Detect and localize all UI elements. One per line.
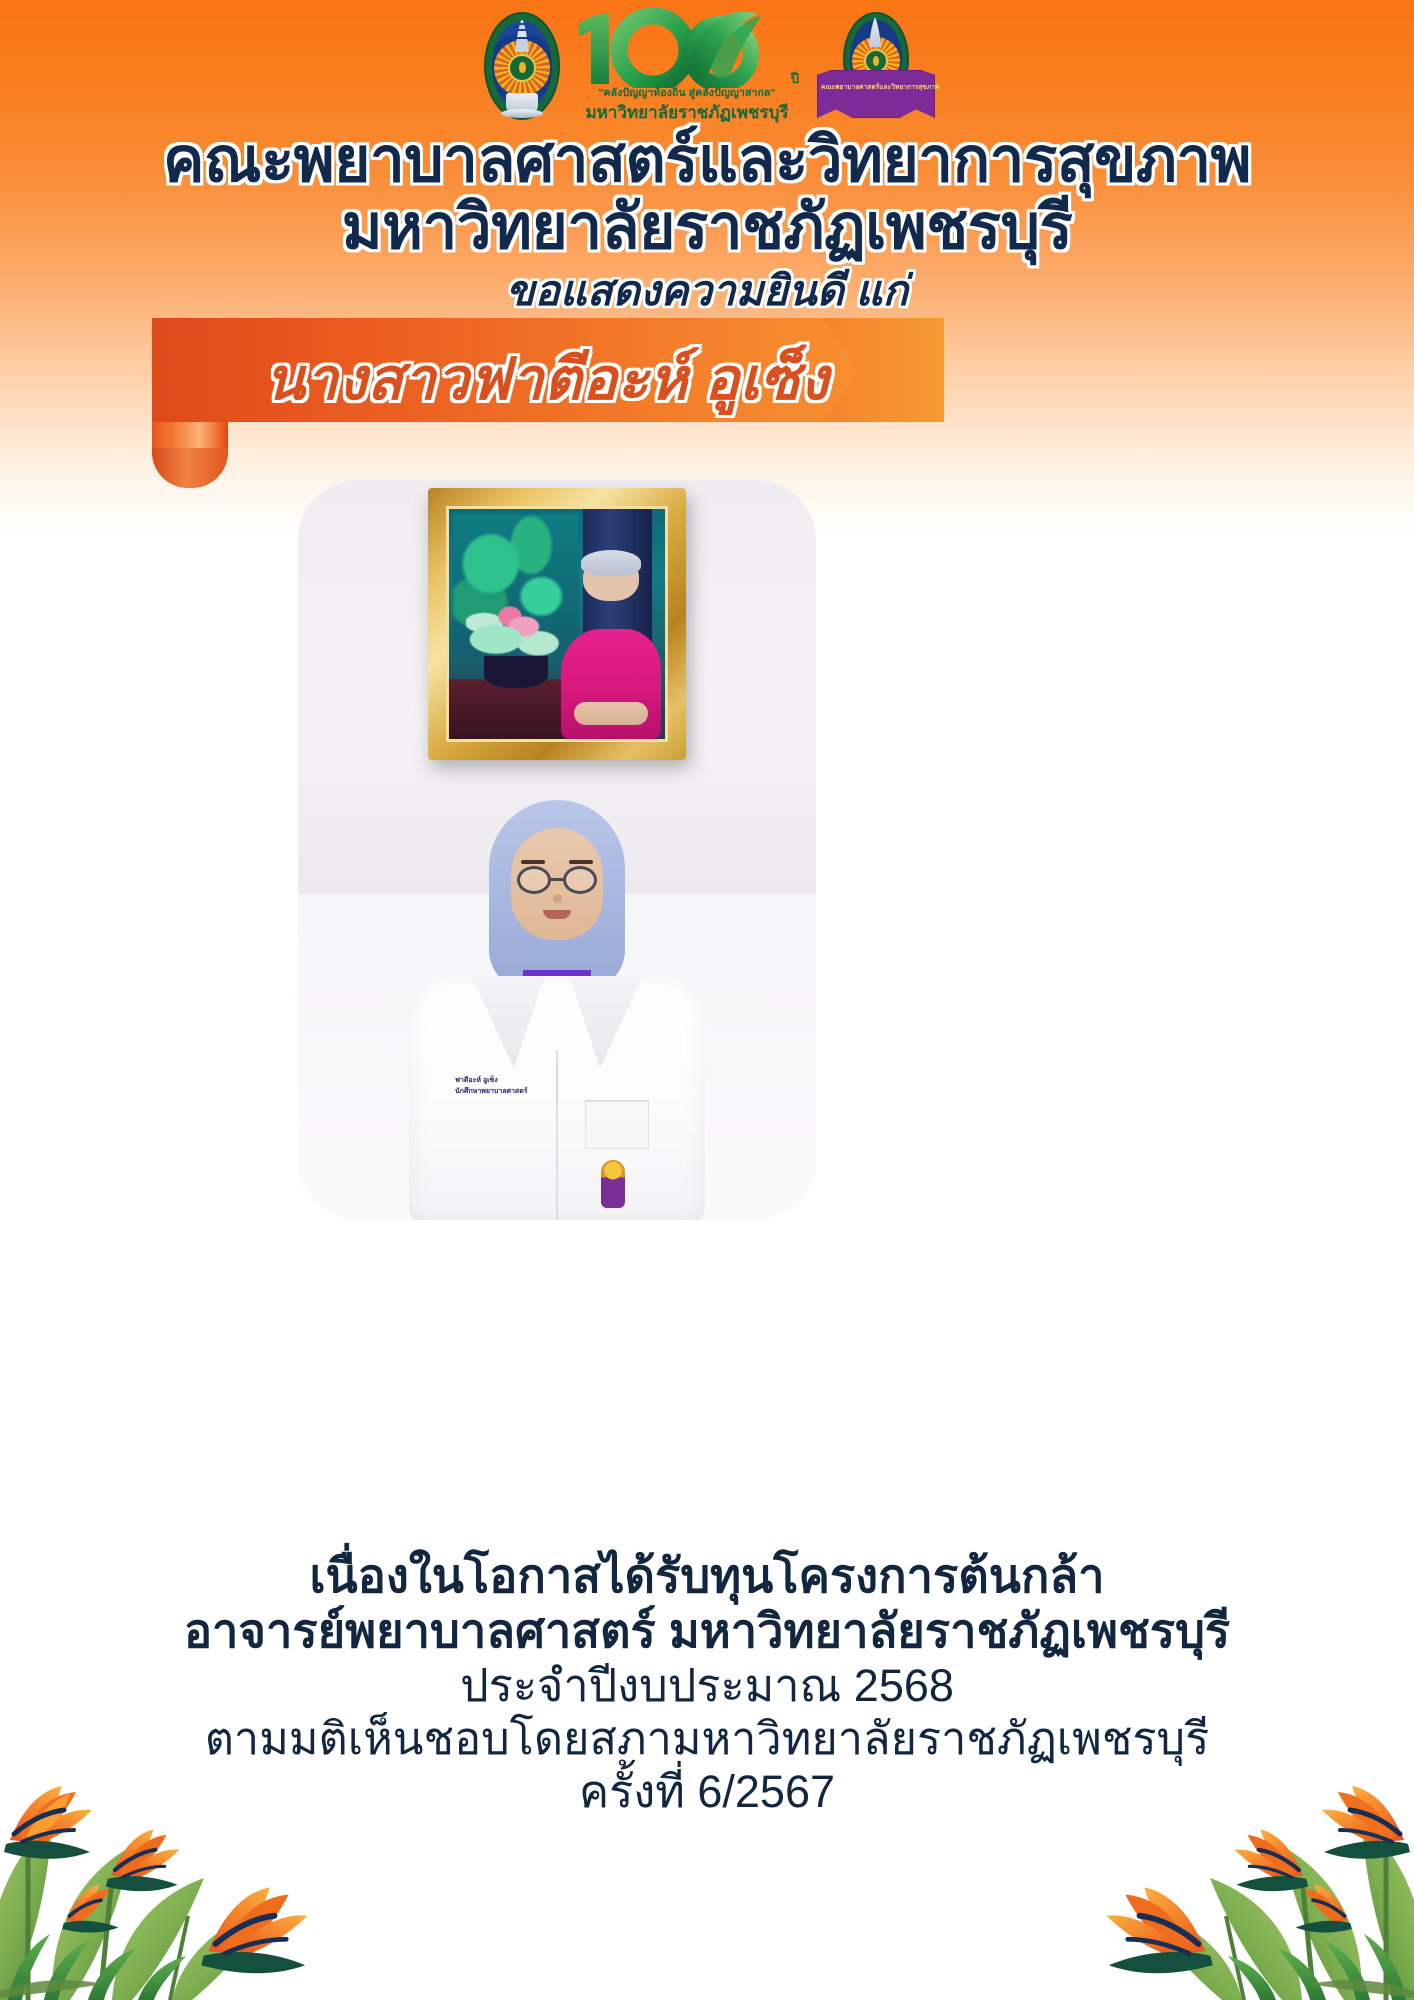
framed-portrait-image xyxy=(446,506,668,742)
body-line-3: ประจำปีงบประมาณ 2568 xyxy=(0,1659,1414,1712)
logo-row: ปี "คลังปัญญาท้องถิ่น สู่คลังปัญญาสากล" … xyxy=(0,8,1414,128)
coat-pocket xyxy=(585,1100,649,1149)
congratulations-poster: ปี "คลังปัญญาท้องถิ่น สู่คลังปัญญาสากล" … xyxy=(0,0,1414,2000)
title-line-2: มหาวิทยาลัยราชภัฏเพชรบุรี xyxy=(0,195,1414,262)
page-title: คณะพยาบาลศาสตร์และวิทยาการสุขภาพ มหาวิทย… xyxy=(0,128,1414,262)
faculty-emblem-ribbon-text: คณะพยาบาลศาสตร์และวิทยาการสุขภาพ xyxy=(821,82,931,93)
person-figure: ฟาตีอะห์ อูเซ็ง นักศึกษาพยาบาลศาสตร์ xyxy=(397,800,717,1220)
eyebrow-left xyxy=(521,860,545,864)
portrait-subject-arm xyxy=(574,702,647,725)
honoree-ribbon-banner: นางสาวฟาตีอะห์ อูเซ็ง xyxy=(0,318,1414,498)
body-line-5: ครั้งที่ 6/2567 xyxy=(0,1765,1414,1818)
centennial-100-logo: ปี "คลังปัญญาท้องถิ่น สู่คลังปัญญาสากล" … xyxy=(561,8,811,128)
faculty-emblem-ribbon xyxy=(817,70,935,118)
coat-badge-icon xyxy=(601,1160,625,1208)
portrait-vase xyxy=(484,656,549,688)
eyeglass-right-icon xyxy=(563,866,597,894)
title-line-1: คณะพยาบาลศาสตร์และวิทยาการสุขภาพ xyxy=(0,128,1414,195)
eyeglass-bridge xyxy=(551,878,563,881)
body-line-4: ตามมติเห็นชอบโดยสภามหาวิทยาลัยราชภัฏเพชร… xyxy=(0,1712,1414,1765)
coat-placket xyxy=(556,1050,558,1220)
centennial-university-name: มหาวิทยาลัยราชภัฏเพชรบุรี xyxy=(567,99,807,126)
portrait-subject-hair xyxy=(581,550,641,575)
eyeglass-left-icon xyxy=(517,866,551,894)
eyebrow-right xyxy=(569,860,593,864)
body-text: เนื่องในโอกาสได้รับทุนโครงการต้นกล้า อาจ… xyxy=(0,1548,1414,1818)
seal-center-emblem xyxy=(519,62,526,73)
coat-embroidery-text: ฟาตีอะห์ อูเซ็ง นักศึกษาพยาบาลศาสตร์ xyxy=(455,1076,541,1097)
faculty-emblem-icon: คณะพยาบาลศาสตร์และวิทยาการสุขภาพ xyxy=(815,8,935,128)
university-seal-icon xyxy=(479,8,565,124)
coat-embroidery-line-2: นักศึกษาพยาบาลศาสตร์ xyxy=(455,1088,528,1095)
nose xyxy=(553,894,562,903)
honoree-name: นางสาวฟาตีอะห์ อูเซ็ง xyxy=(152,332,942,425)
logo-block: ปี "คลังปัญญาท้องถิ่น สู่คลังปัญญาสากล" … xyxy=(479,8,935,128)
faculty-emblem-center xyxy=(873,56,879,66)
body-line-1: เนื่องในโอกาสได้รับทุนโครงการต้นกล้า xyxy=(0,1548,1414,1603)
congratulations-label: ขอแสดงความยินดี แก่ xyxy=(0,258,1414,324)
framed-portrait xyxy=(428,488,686,760)
coat-embroidery-line-1: ฟาตีอะห์ อูเซ็ง xyxy=(455,1077,498,1084)
honoree-photo: ฟาตีอะห์ อูเซ็ง นักศึกษาพยาบาลศาสตร์ xyxy=(298,480,816,1220)
seal-pedestal-icon xyxy=(506,93,538,115)
body-line-2: อาจารย์พยาบาลศาสตร์ มหาวิทยาลัยราชภัฏเพช… xyxy=(0,1603,1414,1658)
